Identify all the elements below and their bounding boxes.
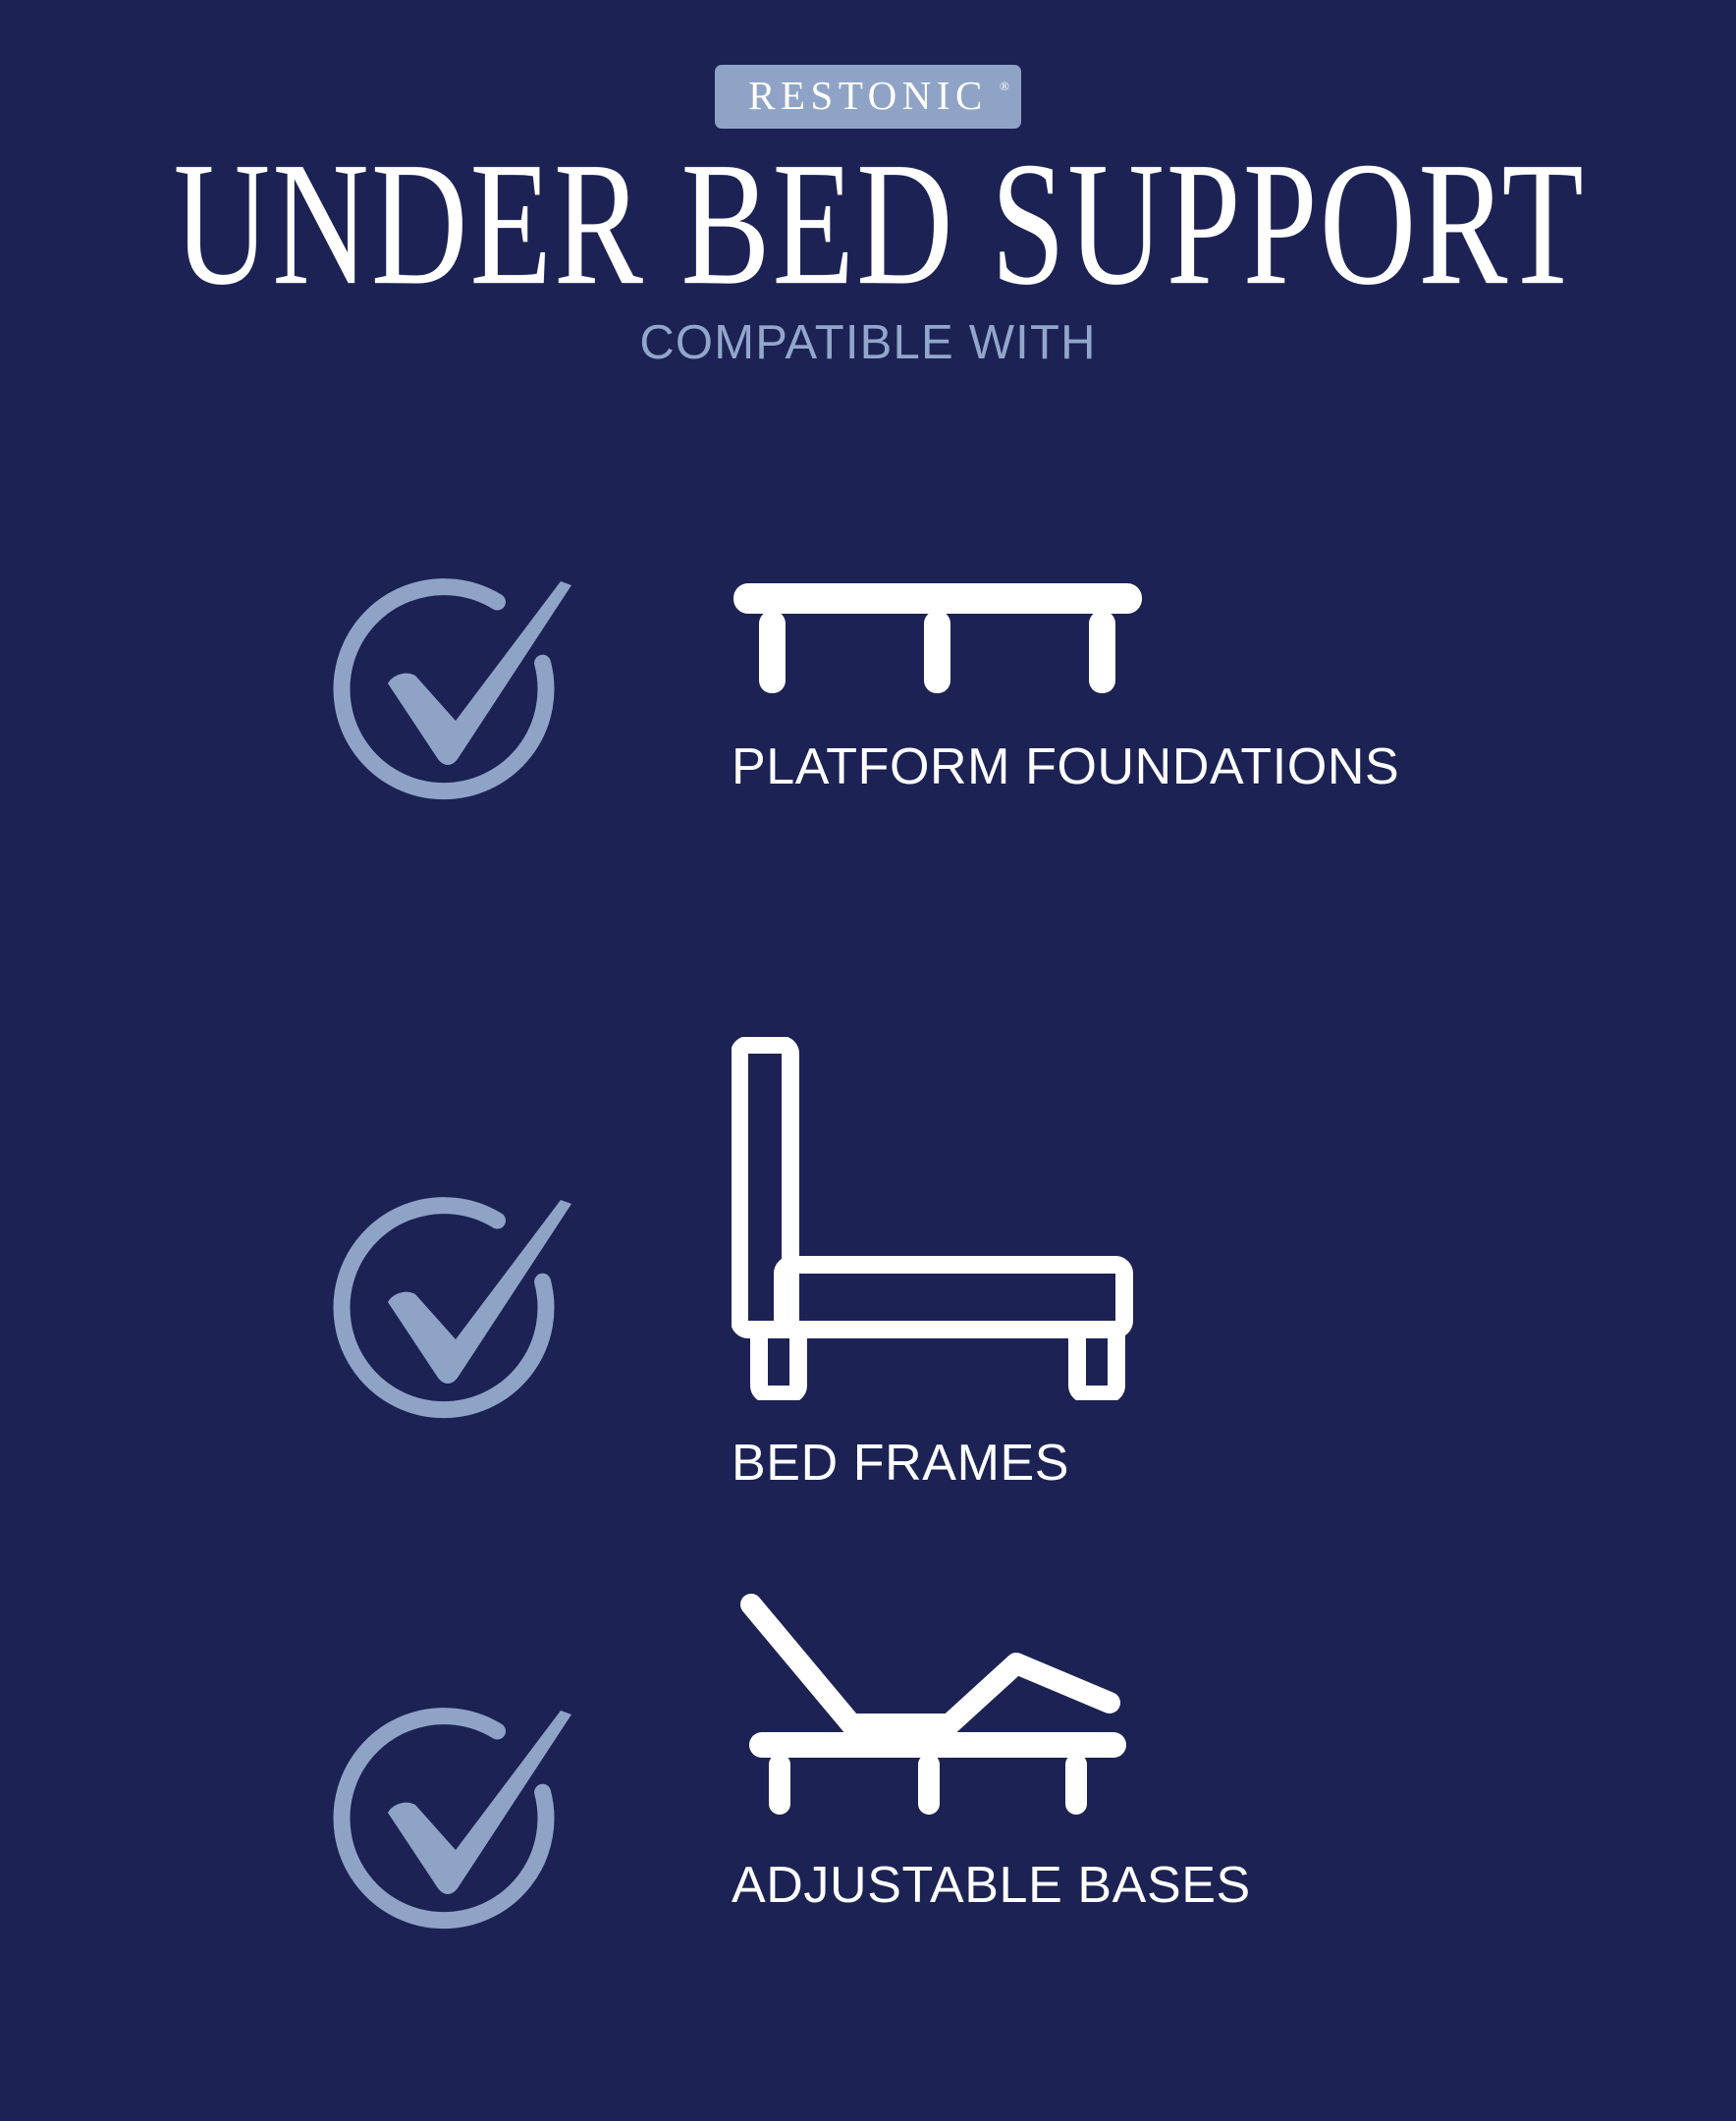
checkmark-circle-icon: [327, 1695, 582, 1950]
checkmark-circle-icon: [327, 1184, 582, 1440]
adjustable-base-icon: [732, 1587, 1664, 1832]
list-item: ADJUSTABLE BASES: [0, 1587, 1736, 2058]
header: RESTONIC ® UNDER BED SUPPORT COMPATIBLE …: [0, 0, 1736, 367]
platform-foundation-icon: [732, 575, 1664, 708]
page-subtitle: COMPATIBLE WITH: [0, 319, 1736, 367]
brand-name: RESTONIC: [748, 76, 988, 116]
item-content: BED FRAMES: [732, 1037, 1664, 1489]
checkmark-circle-icon: [327, 566, 582, 821]
item-content: PLATFORM FOUNDATIONS: [732, 575, 1664, 792]
bed-frame-icon: [732, 1037, 1664, 1400]
item-label: BED FRAMES: [732, 1438, 1664, 1489]
restonic-logo-badge: RESTONIC ®: [715, 65, 1021, 129]
item-label: ADJUSTABLE BASES: [732, 1860, 1664, 1911]
list-item: BED FRAMES: [0, 1037, 1736, 1587]
list-item: PLATFORM FOUNDATIONS: [0, 566, 1736, 1037]
trademark-symbol: ®: [1000, 79, 1009, 94]
page-title: UNDER BED SUPPORT: [174, 142, 1562, 305]
compatibility-list: PLATFORM FOUNDATIONS: [0, 566, 1736, 2058]
item-content: ADJUSTABLE BASES: [732, 1587, 1664, 1911]
infographic-page: RESTONIC ® UNDER BED SUPPORT COMPATIBLE …: [0, 0, 1736, 2121]
item-label: PLATFORM FOUNDATIONS: [732, 741, 1664, 792]
